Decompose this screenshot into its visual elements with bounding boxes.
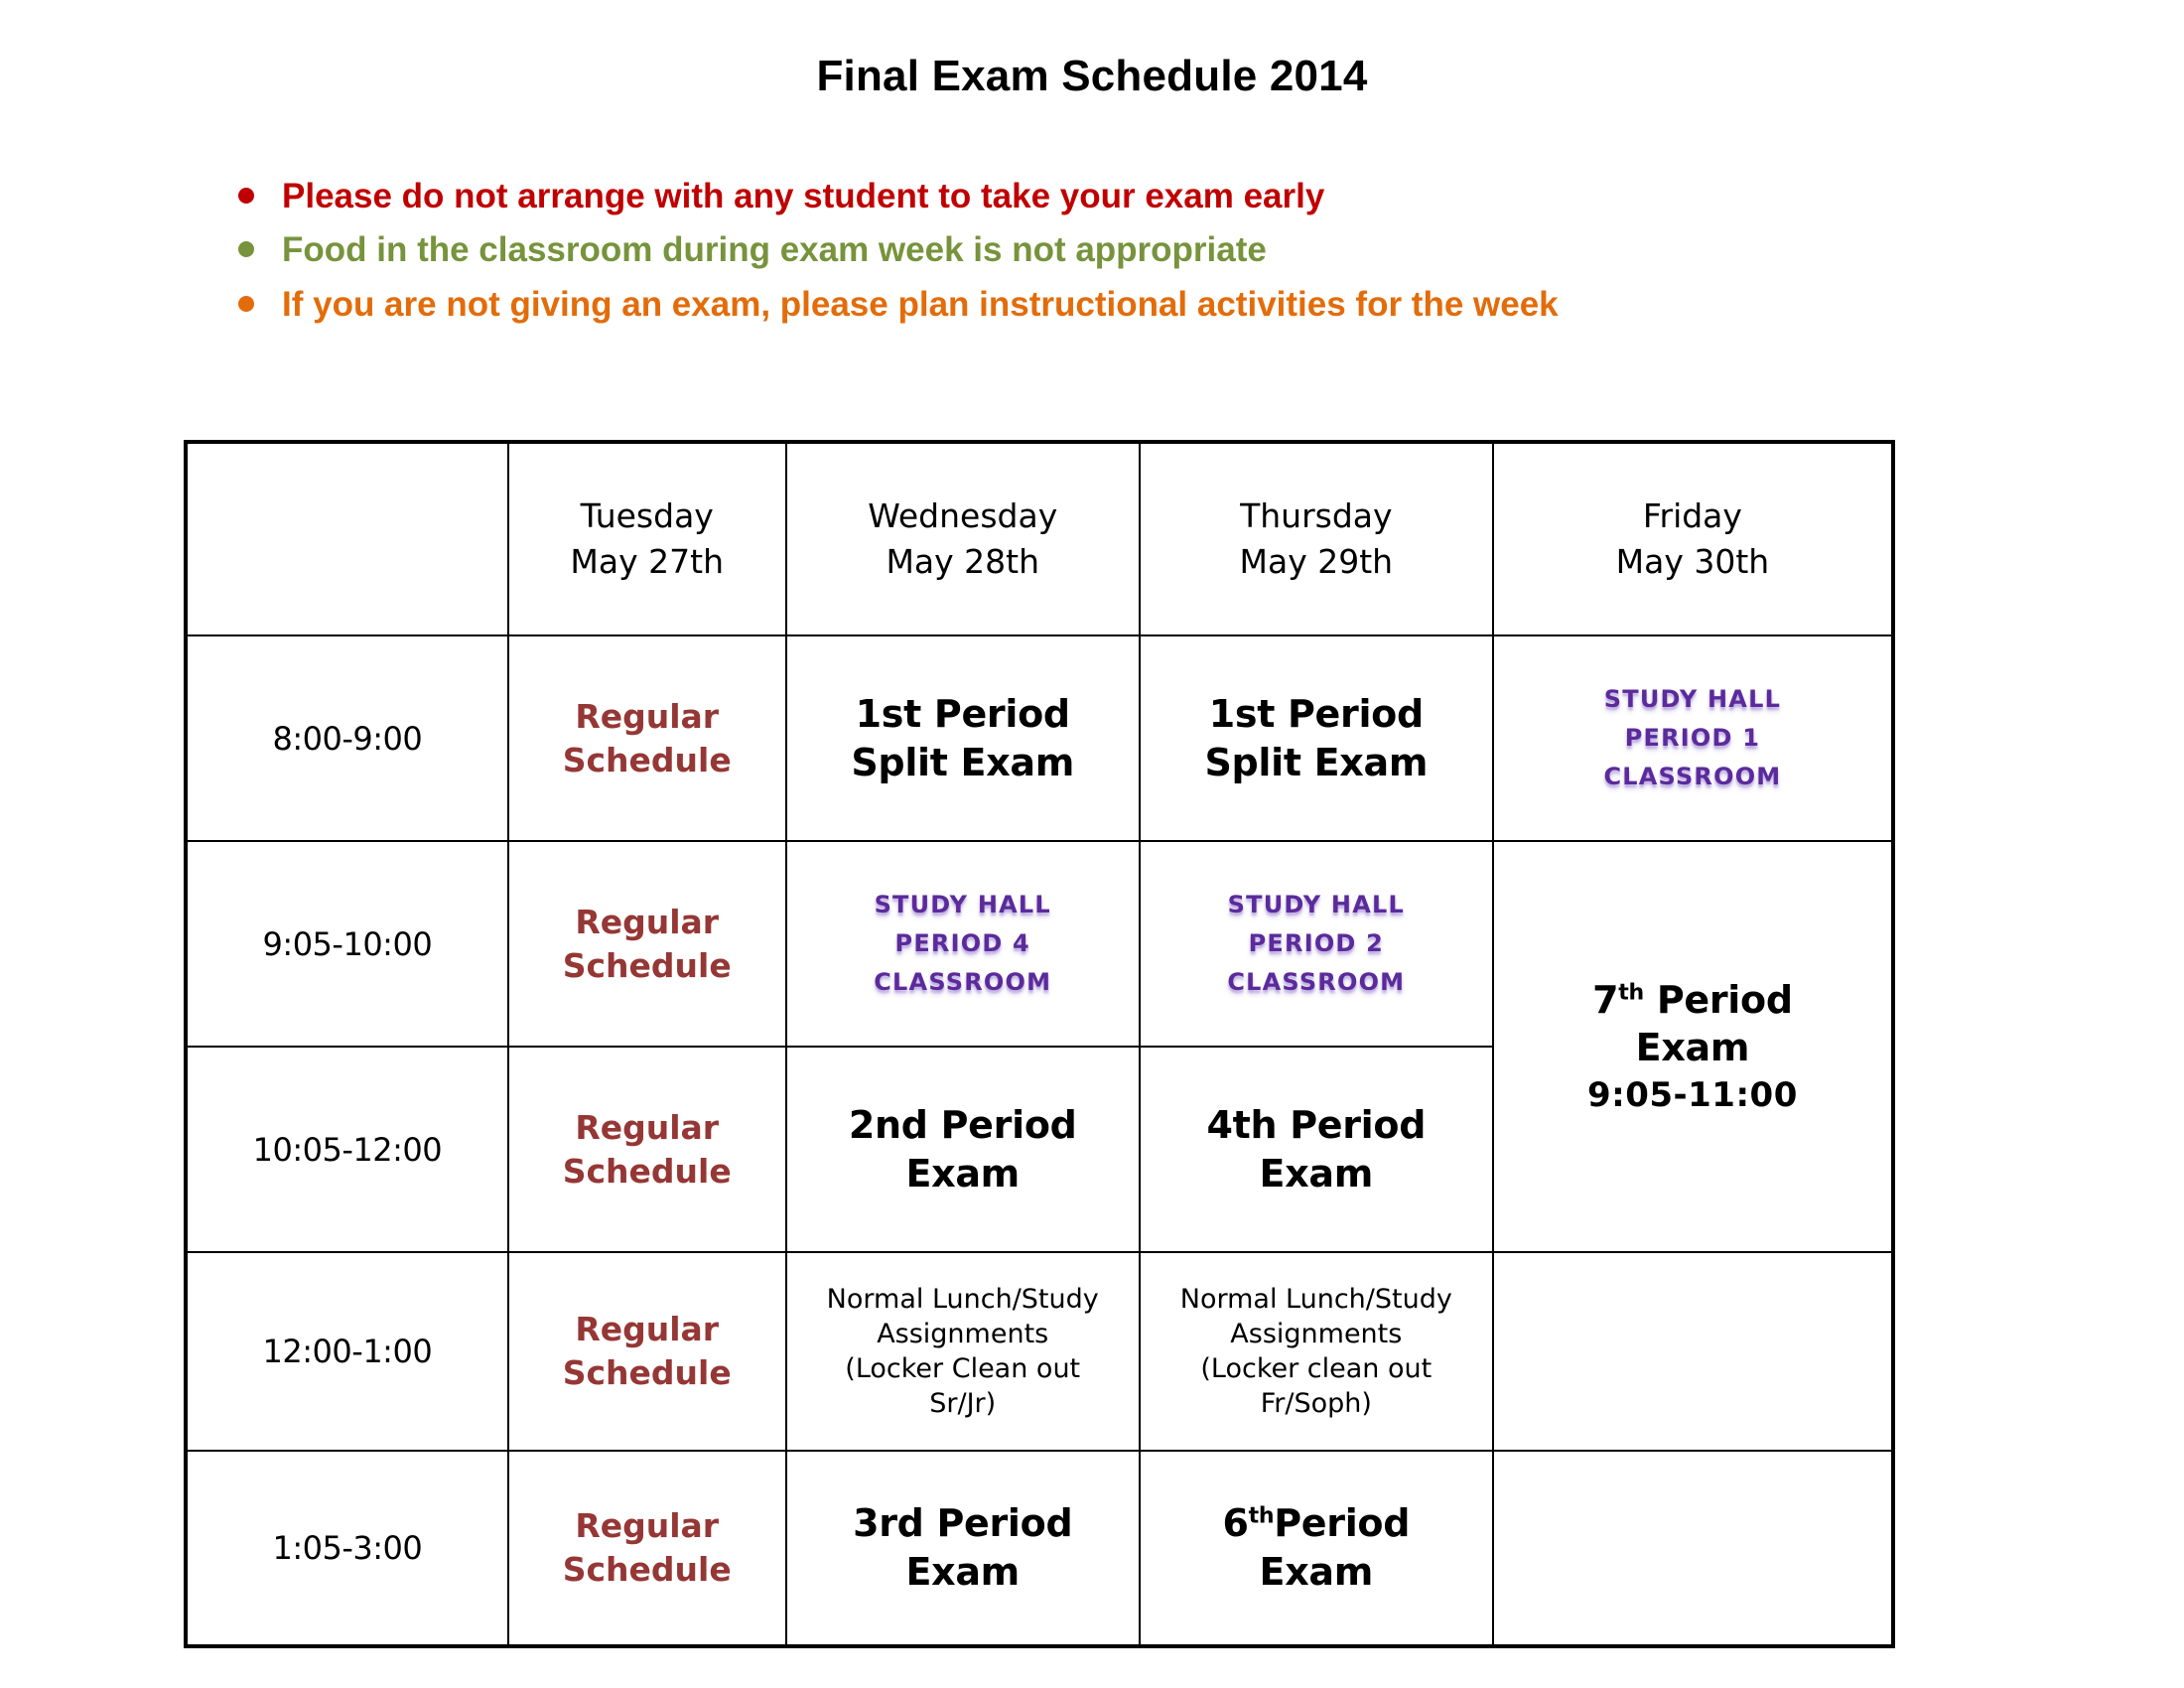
bullet-dot-icon <box>238 296 254 312</box>
regular-line2: Schedule <box>513 1548 781 1592</box>
header-day-tuesday: Tuesday <box>513 493 781 539</box>
cell-tuesday-3: Regular Schedule <box>508 1047 786 1252</box>
bullet-dot-icon <box>238 241 254 257</box>
period-number: 7 <box>1592 978 1618 1022</box>
exam-line2: Split Exam <box>791 739 1135 787</box>
exam-line2: Exam <box>1145 1548 1488 1597</box>
cell-wednesday-4: Normal Lunch/Study Assignments (Locker C… <box>786 1252 1140 1451</box>
cell-tuesday-1: Regular Schedule <box>508 635 786 841</box>
notice-text-2: Food in the classroom during exam week i… <box>282 230 1267 270</box>
cell-thursday-3: 4th Period Exam <box>1140 1047 1493 1252</box>
time-cell-2: 9:05-10:00 <box>186 841 508 1047</box>
study-hall-line3: CLASSROOM <box>1498 758 1887 796</box>
table-row: 1:05-3:00 Regular Schedule 3rd Period Ex… <box>186 1451 1893 1646</box>
header-date-friday: May 30th <box>1498 539 1887 585</box>
cell-friday-4-empty <box>1493 1252 1893 1451</box>
regular-line1: Regular <box>513 901 781 944</box>
period-number: 6 <box>1222 1501 1248 1545</box>
cell-wednesday-3: 2nd Period Exam <box>786 1047 1140 1252</box>
cell-tuesday-2: Regular Schedule <box>508 841 786 1047</box>
exam-line2: Split Exam <box>1145 739 1488 787</box>
page-title: Final Exam Schedule 2014 <box>0 52 2184 101</box>
table-row: 8:00-9:00 Regular Schedule 1st Period Sp… <box>186 635 1893 841</box>
time-cell-1: 8:00-9:00 <box>186 635 508 841</box>
exam-line1: 6thPeriod <box>1145 1499 1488 1548</box>
table-row: 9:05-10:00 Regular Schedule STUDY HALL P… <box>186 841 1893 1047</box>
period-word: Period <box>1274 1501 1410 1545</box>
exam-time-range: 9:05-11:00 <box>1498 1074 1887 1118</box>
cell-tuesday-4: Regular Schedule <box>508 1252 786 1451</box>
exam-schedule-table: Tuesday May 27th Wednesday May 28th Thur… <box>184 440 1895 1648</box>
header-day-friday: Friday <box>1498 493 1887 539</box>
regular-line2: Schedule <box>513 739 781 782</box>
cell-wednesday-5: 3rd Period Exam <box>786 1451 1140 1646</box>
lunch-line1: Normal Lunch/Study <box>791 1282 1135 1317</box>
header-day-wednesday: Wednesday <box>791 493 1135 539</box>
lunch-line2: Assignments <box>1145 1317 1488 1351</box>
cell-friday-1: STUDY HALL PERIOD 1 CLASSROOM <box>1493 635 1893 841</box>
regular-line1: Regular <box>513 695 781 739</box>
regular-line2: Schedule <box>513 1351 781 1395</box>
exam-line1: 2nd Period <box>791 1101 1135 1150</box>
header-corner-cell <box>186 442 508 635</box>
period-word: Period <box>1644 978 1793 1022</box>
cell-wednesday-2: STUDY HALL PERIOD 4 CLASSROOM <box>786 841 1140 1047</box>
exam-line1: 1st Period <box>1145 690 1488 739</box>
time-label-1: 8:00-9:00 <box>272 720 422 758</box>
time-cell-4: 12:00-1:00 <box>186 1252 508 1451</box>
notice-text-3: If you are not giving an exam, please pl… <box>282 285 1559 325</box>
header-date-tuesday: May 27th <box>513 539 781 585</box>
study-hall-line3: CLASSROOM <box>791 963 1135 1002</box>
notice-item-3: If you are not giving an exam, please pl… <box>238 285 2025 325</box>
bullet-dot-icon <box>238 188 254 204</box>
cell-friday-5-empty <box>1493 1451 1893 1646</box>
cell-thursday-4: Normal Lunch/Study Assignments (Locker c… <box>1140 1252 1493 1451</box>
header-cell-wednesday: Wednesday May 28th <box>786 442 1140 635</box>
schedule-table-container: Tuesday May 27th Wednesday May 28th Thur… <box>184 440 1895 1648</box>
exam-schedule-page: Final Exam Schedule 2014 Please do not a… <box>0 0 2184 1688</box>
time-cell-3: 10:05-12:00 <box>186 1047 508 1252</box>
time-label-4: 12:00-1:00 <box>263 1333 433 1370</box>
study-hall-line1: STUDY HALL <box>1145 886 1488 924</box>
lunch-line3: (Locker Clean out <box>791 1351 1135 1386</box>
time-cell-5: 1:05-3:00 <box>186 1451 508 1646</box>
lunch-line4: Fr/Soph) <box>1145 1386 1488 1421</box>
period-ordinal: th <box>1618 980 1644 1005</box>
study-hall-line3: CLASSROOM <box>1145 963 1488 1002</box>
cell-thursday-1: 1st Period Split Exam <box>1140 635 1493 841</box>
exam-line1: 4th Period <box>1145 1101 1488 1150</box>
regular-line2: Schedule <box>513 944 781 988</box>
time-label-2: 9:05-10:00 <box>263 925 433 963</box>
exam-line1: 7th Period <box>1498 976 1887 1025</box>
notice-item-1: Please do not arrange with any student t… <box>238 177 2025 216</box>
cell-friday-seventh-period-exam: 7th Period Exam 9:05-11:00 <box>1493 841 1893 1252</box>
lunch-line1: Normal Lunch/Study <box>1145 1282 1488 1317</box>
time-label-5: 1:05-3:00 <box>272 1529 422 1567</box>
exam-line2: Exam <box>1498 1024 1887 1072</box>
cell-thursday-5: 6thPeriod Exam <box>1140 1451 1493 1646</box>
header-cell-thursday: Thursday May 29th <box>1140 442 1493 635</box>
header-date-thursday: May 29th <box>1145 539 1488 585</box>
cell-thursday-2: STUDY HALL PERIOD 2 CLASSROOM <box>1140 841 1493 1047</box>
study-hall-line2: PERIOD 4 <box>791 924 1135 963</box>
exam-line1: 1st Period <box>791 690 1135 739</box>
cell-tuesday-5: Regular Schedule <box>508 1451 786 1646</box>
regular-line2: Schedule <box>513 1150 781 1194</box>
lunch-line3: (Locker clean out <box>1145 1351 1488 1386</box>
exam-line2: Exam <box>1145 1150 1488 1198</box>
table-header-row: Tuesday May 27th Wednesday May 28th Thur… <box>186 442 1893 635</box>
notice-text-1: Please do not arrange with any student t… <box>282 177 1324 216</box>
header-date-wednesday: May 28th <box>791 539 1135 585</box>
exam-line2: Exam <box>791 1548 1135 1597</box>
notice-list: Please do not arrange with any student t… <box>238 177 2025 339</box>
notice-item-2: Food in the classroom during exam week i… <box>238 230 2025 270</box>
study-hall-line1: STUDY HALL <box>1498 680 1887 719</box>
lunch-line4: Sr/Jr) <box>791 1386 1135 1421</box>
header-cell-tuesday: Tuesday May 27th <box>508 442 786 635</box>
exam-line2: Exam <box>791 1150 1135 1198</box>
regular-line1: Regular <box>513 1504 781 1548</box>
header-cell-friday: Friday May 30th <box>1493 442 1893 635</box>
study-hall-line1: STUDY HALL <box>791 886 1135 924</box>
study-hall-line2: PERIOD 1 <box>1498 719 1887 758</box>
study-hall-line2: PERIOD 2 <box>1145 924 1488 963</box>
regular-line1: Regular <box>513 1308 781 1351</box>
exam-line1: 3rd Period <box>791 1499 1135 1548</box>
regular-line1: Regular <box>513 1106 781 1150</box>
lunch-line2: Assignments <box>791 1317 1135 1351</box>
time-label-3: 10:05-12:00 <box>253 1131 442 1169</box>
header-day-thursday: Thursday <box>1145 493 1488 539</box>
cell-wednesday-1: 1st Period Split Exam <box>786 635 1140 841</box>
table-row: 12:00-1:00 Regular Schedule Normal Lunch… <box>186 1252 1893 1451</box>
period-ordinal: th <box>1249 1504 1275 1529</box>
